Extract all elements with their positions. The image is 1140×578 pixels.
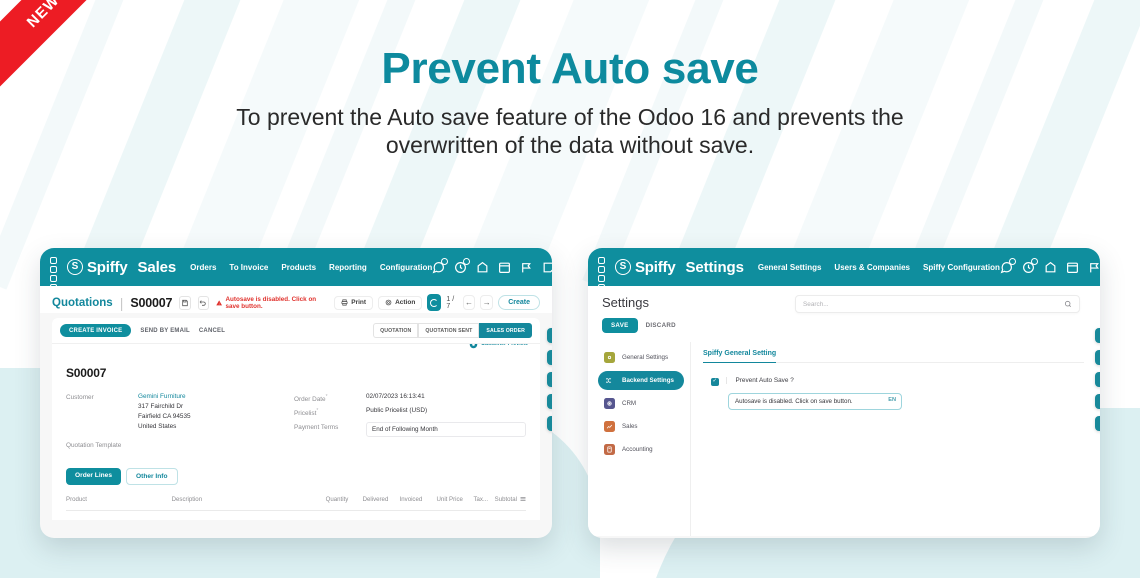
search-input[interactable]: Search... <box>795 295 1080 313</box>
settings-sidebar: General Settings Backend Settings CRM <box>588 342 691 536</box>
brand-logo-group[interactable]: S Spiffy <box>615 259 675 276</box>
note-icon[interactable] <box>542 261 552 274</box>
pencil-edit-icon[interactable] <box>1095 372 1100 387</box>
bug-icon[interactable] <box>476 261 489 274</box>
save-button[interactable]: SAVE <box>602 318 638 333</box>
setting-prevent-auto-save: Prevent Auto Save ? <box>703 377 1084 386</box>
left-navbar: S Spiffy Sales Orders To Invoice Product… <box>40 248 552 286</box>
messages-badge <box>441 258 448 265</box>
autosave-message-input[interactable]: Autosave is disabled. Click on save butt… <box>728 393 902 410</box>
column-subtotal-group: Subtotal <box>495 496 526 503</box>
create-button[interactable]: Create <box>498 295 540 310</box>
search-icon[interactable] <box>1064 300 1072 308</box>
menu-orders[interactable]: Orders <box>190 263 216 272</box>
customer-preview-button[interactable]: Customer Preview <box>469 344 528 349</box>
search-icon[interactable] <box>547 350 552 365</box>
field-pricelist: Pricelist* Public Pricelist (USD) <box>294 406 526 417</box>
sales-chart-icon <box>604 421 615 432</box>
record-sheet: Customer Preview S00007 Customer Gemini … <box>52 344 540 520</box>
right-nav-menu: General Settings Users & Companies Spiff… <box>758 263 1000 272</box>
brand-name: Spiffy <box>635 259 675 276</box>
tab-order-lines[interactable]: Order Lines <box>66 468 121 485</box>
send-by-email-button[interactable]: SEND BY EMAIL <box>140 328 190 334</box>
form-columns: Customer Gemini Furniture 317 Fairchild … <box>66 392 526 452</box>
poster-canvas: NEW Prevent Auto save To prevent the Aut… <box>0 0 1140 578</box>
menu-general-settings[interactable]: General Settings <box>758 263 822 272</box>
activities-icon[interactable] <box>1022 261 1035 274</box>
sidebar-item-backend-settings[interactable]: Backend Settings <box>598 371 684 390</box>
sidebar-item-general-settings[interactable]: General Settings <box>598 348 684 367</box>
column-delivered: Delivered <box>363 496 400 503</box>
field-order-date-label: Order Date* <box>294 392 366 403</box>
autosave-warning-text: Autosave is disabled. Click on save butt… <box>226 296 328 310</box>
pager: 1 / 7 <box>446 296 457 310</box>
spiffy-icon <box>604 375 615 386</box>
flag-icon[interactable] <box>520 261 533 274</box>
settings-window: S Spiffy Settings General Settings Users… <box>588 248 1100 538</box>
menu-spiffy-configuration[interactable]: Spiffy Configuration <box>923 263 1000 272</box>
arrow-right-icon[interactable]: → <box>480 295 493 310</box>
sidebar-item-label: Accounting <box>622 446 653 453</box>
prevent-auto-save-checkbox[interactable] <box>711 378 719 386</box>
magnifier-icon[interactable] <box>1095 394 1100 409</box>
search-icon[interactable] <box>1095 350 1100 365</box>
page-title: Prevent Auto save <box>0 44 1140 94</box>
stage-sales-order[interactable]: SALES ORDER <box>479 323 532 338</box>
spiffy-logo-icon: S <box>615 259 631 275</box>
accounting-icon <box>604 444 615 455</box>
activities-badge <box>463 258 470 265</box>
brand-logo-group[interactable]: S Spiffy <box>67 259 127 276</box>
right-navbar: S Spiffy Settings General Settings Users… <box>588 248 1100 286</box>
column-description: Description <box>172 496 326 503</box>
column-quantity: Quantity <box>326 496 363 503</box>
sheet-record-title: S00007 <box>66 366 526 380</box>
right-navbar-systray <box>1000 258 1100 277</box>
menu-to-invoice[interactable]: To Invoice <box>229 263 268 272</box>
left-side-rail <box>547 328 552 431</box>
sheet-tabs: Order Lines Other Info <box>66 468 526 485</box>
settings-panel: Spiffy General Setting Prevent Auto Save… <box>691 342 1100 536</box>
brand-name: Spiffy <box>87 259 127 276</box>
column-unit-price: Unit Price <box>437 496 474 503</box>
record-name: S00007 <box>130 296 172 310</box>
globe-eye-icon <box>469 344 478 349</box>
control-panel: Quotations | S00007 Autosave is disabled… <box>40 286 552 313</box>
apps-grid-icon[interactable] <box>598 257 605 277</box>
field-payment-terms-label: Payment Terms <box>294 422 366 437</box>
pencil-edit-icon[interactable] <box>547 372 552 387</box>
breadcrumb-separator: | <box>120 295 124 311</box>
column-invoiced: Invoiced <box>400 496 437 503</box>
form-column-right: Order Date* 02/07/2023 16:13:41 Pricelis… <box>294 392 526 452</box>
field-customer: Customer Gemini Furniture 317 Fairchild … <box>66 392 264 432</box>
panel-section-title: Spiffy General Setting <box>703 350 1084 363</box>
customer-name-link[interactable]: Gemini Furniture <box>138 392 191 402</box>
sidebar-item-label: Sales <box>622 423 637 430</box>
print-button[interactable]: Print <box>334 296 373 310</box>
bug-icon[interactable] <box>1044 261 1057 274</box>
autosave-warning: Autosave is disabled. Click on save butt… <box>216 296 327 310</box>
arrow-left-icon[interactable]: ← <box>463 295 476 310</box>
spiffy-logo-icon: S <box>67 259 83 275</box>
magnifier-icon[interactable] <box>547 394 552 409</box>
crm-icon <box>604 398 615 409</box>
settings-page-title: Settings <box>602 295 649 310</box>
settings-header: Settings Search... <box>588 286 1100 313</box>
loading-spinner-icon[interactable] <box>427 294 441 311</box>
control-panel-actions: Print Action 1 / 7 ← → Create <box>334 294 540 311</box>
menu-configuration[interactable]: Configuration <box>380 263 432 272</box>
settings-actions: SAVE DISCARD <box>588 313 1100 342</box>
column-product: Product <box>66 496 172 503</box>
bookmark-icon[interactable] <box>1095 416 1100 431</box>
messages-icon[interactable] <box>1000 261 1013 274</box>
flag-icon[interactable] <box>1088 261 1100 274</box>
customer-preview-label: Customer Preview <box>481 344 528 348</box>
sidebar-item-accounting[interactable]: Accounting <box>598 440 684 459</box>
customer-city-state-zip: Fairfield CA 94535 <box>138 412 191 422</box>
messages-badge <box>1009 258 1016 265</box>
panel-section-title-text: Spiffy General Setting <box>703 350 776 363</box>
field-order-date-value[interactable]: 02/07/2023 16:13:41 <box>366 392 425 403</box>
activities-icon[interactable] <box>454 261 467 274</box>
breadcrumb-root[interactable]: Quotations <box>52 297 113 309</box>
customer-street: 317 Fairchild Dr <box>138 402 191 412</box>
warning-triangle-icon <box>216 299 222 307</box>
language-badge[interactable]: EN <box>888 397 896 403</box>
cancel-button[interactable]: CANCEL <box>199 328 225 334</box>
form-column-left: Customer Gemini Furniture 317 Fairchild … <box>66 392 264 452</box>
prevent-auto-save-label: Prevent Auto Save ? <box>726 377 794 384</box>
discard-button[interactable]: DISCARD <box>646 322 676 329</box>
sidebar-item-sales[interactable]: Sales <box>598 417 684 436</box>
autosave-message-field: Autosave is disabled. Click on save butt… <box>728 393 902 410</box>
bookmark-icon[interactable] <box>547 416 552 431</box>
menu-users-companies[interactable]: Users & Companies <box>834 263 910 272</box>
settings-body: General Settings Backend Settings CRM <box>588 342 1100 536</box>
right-side-rail <box>1095 328 1100 431</box>
star-icon[interactable] <box>1095 328 1100 343</box>
field-customer-label: Customer <box>66 392 138 432</box>
sheet-wrapper: CREATE INVOICE SEND BY EMAIL CANCEL QUOT… <box>40 313 552 520</box>
create-invoice-button[interactable]: CREATE INVOICE <box>60 324 131 337</box>
messages-icon[interactable] <box>432 261 445 274</box>
column-options-icon[interactable] <box>520 496 526 502</box>
calendar-icon[interactable] <box>1066 261 1079 274</box>
menu-reporting[interactable]: Reporting <box>329 263 367 272</box>
action-label: Action <box>395 299 415 306</box>
print-label: Print <box>351 299 366 306</box>
field-pricelist-label: Pricelist* <box>294 406 366 417</box>
sidebar-item-label: CRM <box>622 400 636 407</box>
left-navbar-systray <box>432 258 552 277</box>
order-lines-table-header: Product Description Quantity Delivered I… <box>66 496 526 511</box>
left-nav-menu: Orders To Invoice Products Reporting Con… <box>190 263 432 272</box>
field-pricelist-value[interactable]: Public Pricelist (USD) <box>366 406 427 417</box>
action-button[interactable]: Action <box>378 296 422 310</box>
statusbar: CREATE INVOICE SEND BY EMAIL CANCEL QUOT… <box>52 318 540 344</box>
sidebar-item-label: General Settings <box>622 354 668 361</box>
column-subtotal: Subtotal <box>495 496 517 503</box>
calendar-icon[interactable] <box>498 261 511 274</box>
column-tax: Tax... <box>474 496 495 503</box>
save-icon[interactable] <box>179 296 190 310</box>
sidebar-item-label: Backend Settings <box>622 377 674 384</box>
field-order-date: Order Date* 02/07/2023 16:13:41 <box>294 392 526 403</box>
search-input-text: Search... <box>803 301 829 308</box>
page-subtitle: To prevent the Auto save feature of the … <box>220 103 920 159</box>
app-name: Settings <box>685 259 743 276</box>
new-ribbon-label: NEW <box>23 0 62 31</box>
stage-widget: QUOTATION QUOTATION SENT SALES ORDER <box>373 323 532 338</box>
field-quotation-template-label: Quotation Template <box>66 440 121 449</box>
payment-terms-input[interactable]: End of Following Month <box>366 422 526 437</box>
discard-undo-icon[interactable] <box>198 296 209 310</box>
star-icon[interactable] <box>547 328 552 343</box>
app-name: Sales <box>137 259 176 276</box>
field-quotation-template: Quotation Template <box>66 440 264 449</box>
sidebar-item-crm[interactable]: CRM <box>598 394 684 413</box>
apps-grid-icon[interactable] <box>50 257 57 277</box>
sales-quotation-window: S Spiffy Sales Orders To Invoice Product… <box>40 248 552 538</box>
tab-other-info[interactable]: Other Info <box>126 468 178 485</box>
customer-country: United States <box>138 422 191 432</box>
field-customer-values: Gemini Furniture 317 Fairchild Dr Fairfi… <box>138 392 191 432</box>
gear-icon <box>604 352 615 363</box>
activities-badge <box>1031 258 1038 265</box>
field-payment-terms: Payment Terms End of Following Month <box>294 422 526 437</box>
stage-quotation-sent[interactable]: QUOTATION SENT <box>418 323 479 338</box>
menu-products[interactable]: Products <box>281 263 316 272</box>
stage-quotation[interactable]: QUOTATION <box>373 323 418 338</box>
